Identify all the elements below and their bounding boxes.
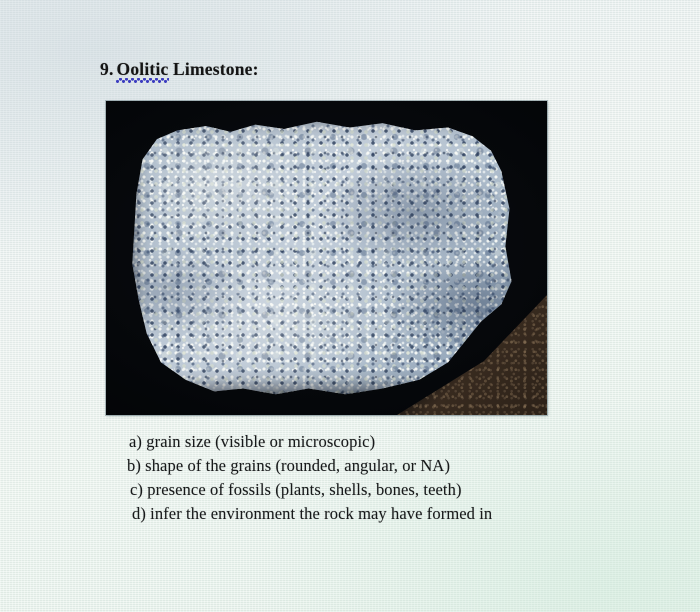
question-item-d: d) infer the environment the rock may ha… bbox=[132, 502, 492, 526]
spellcheck-squiggle-underline bbox=[116, 78, 170, 83]
title-rest-text: Limestone: bbox=[168, 59, 258, 79]
specimen-photograph bbox=[106, 101, 547, 415]
title-misspelled-word: Oolitic bbox=[117, 59, 169, 80]
title-misspelled-word-text: Oolitic bbox=[117, 59, 169, 79]
question-item-a: a) grain size (visible or microscopic) bbox=[129, 430, 492, 454]
page-title: 9.Oolitic Limestone: bbox=[100, 59, 259, 80]
document-page: 9.Oolitic Limestone: a) grain size (visi… bbox=[0, 0, 700, 612]
question-item-c: c) presence of fossils (plants, shells, … bbox=[130, 478, 492, 502]
question-list: a) grain size (visible or microscopic) b… bbox=[129, 430, 492, 526]
title-item-number: 9. bbox=[100, 59, 114, 79]
question-item-b: b) shape of the grains (rounded, angular… bbox=[127, 454, 492, 478]
